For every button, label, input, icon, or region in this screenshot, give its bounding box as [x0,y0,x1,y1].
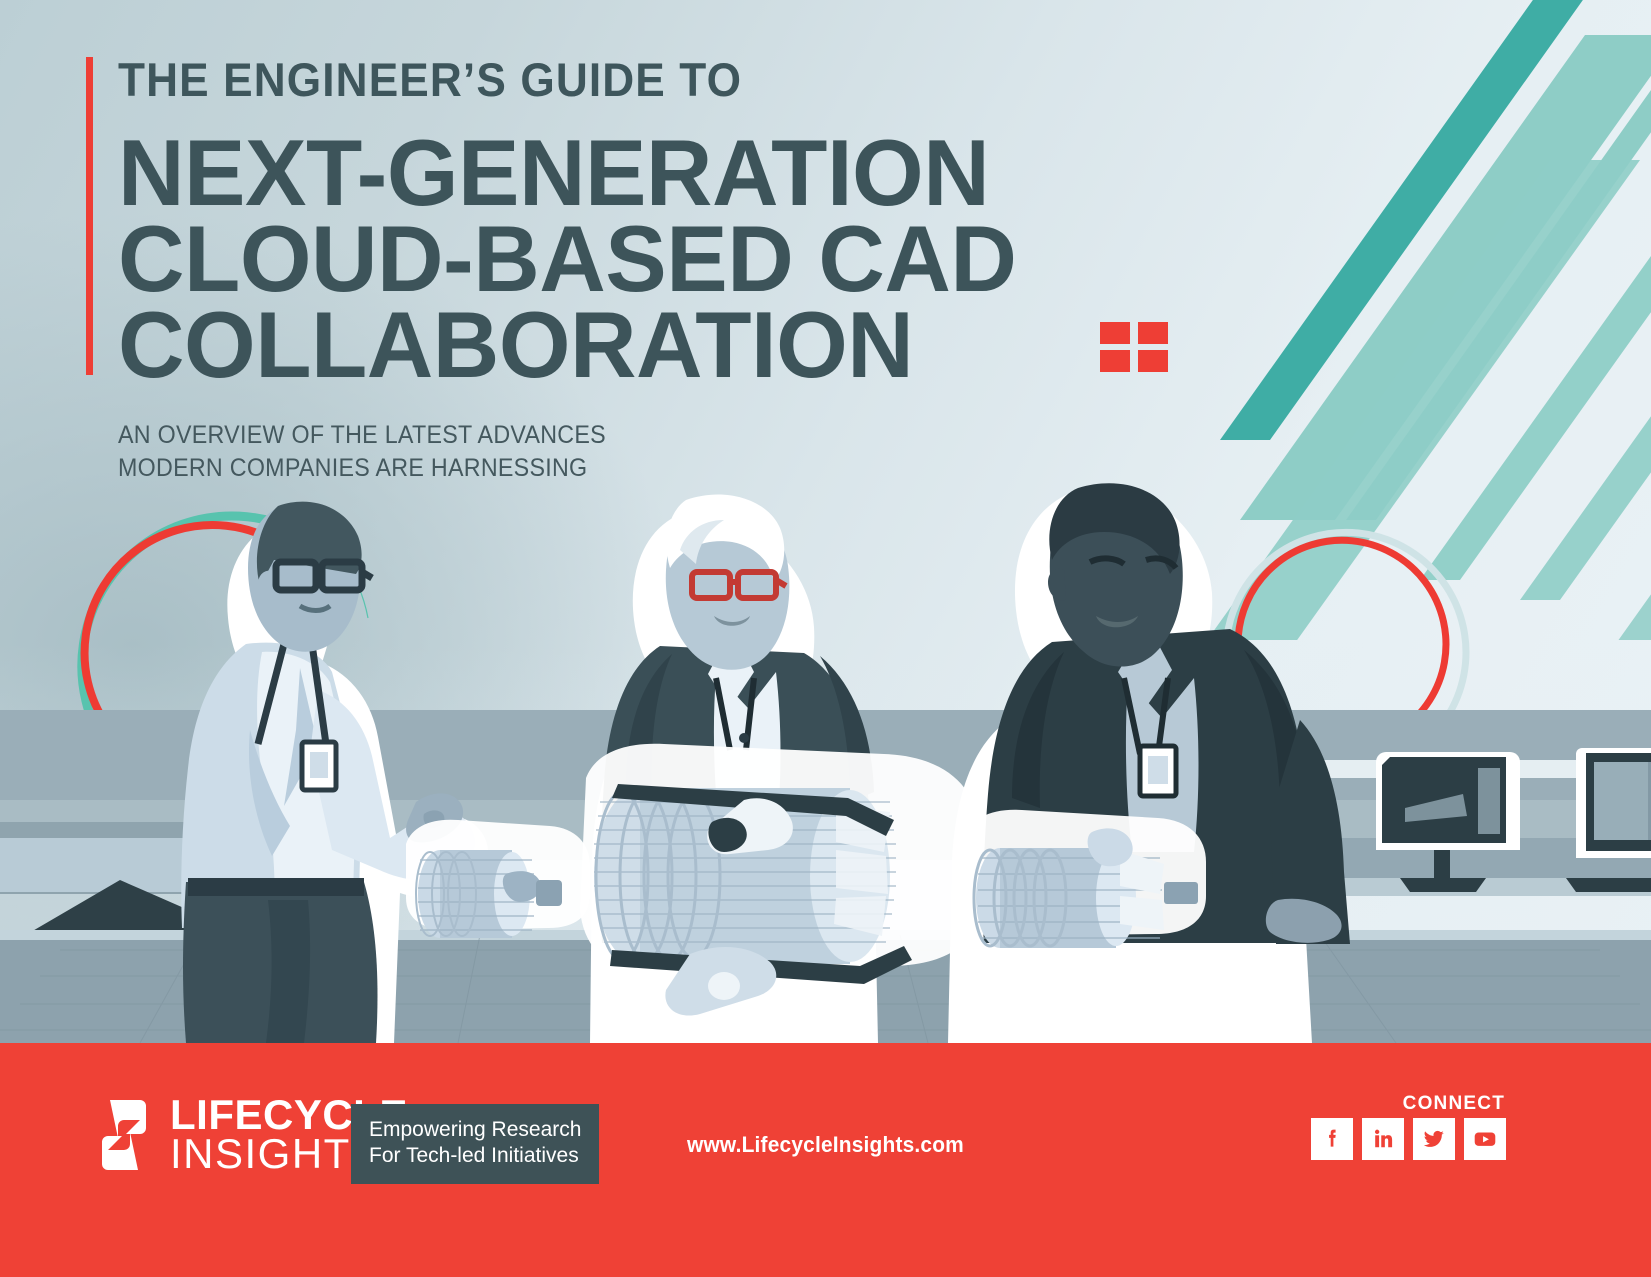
engineer-right [948,483,1350,1043]
cover-page: THE ENGINEER’S GUIDE TO NEXT-GENERATION … [0,0,1651,1277]
square-top-left [1100,322,1130,344]
square-bottom-right [1138,350,1168,372]
title-line-1: NEXT-GENERATION [118,130,1167,216]
subtitle-text: AN OVERVIEW OF THE LATEST ADVANCES MODER… [118,419,713,485]
four-squares-mark-icon [1100,322,1168,372]
eyebrow-text: THE ENGINEER’S GUIDE TO [118,52,1124,108]
cover-illustration [0,430,1651,1043]
title-line-2: CLOUD-BASED CAD [118,216,1167,302]
social-links [1311,1118,1506,1160]
connect-label: CONNECT [1403,1093,1505,1115]
title-line-3: COLLABORATION [118,302,1167,388]
engine-part-right [964,810,1206,948]
square-bottom-left [1100,350,1130,372]
youtube-icon[interactable] [1464,1118,1506,1160]
engine-part-left [406,820,590,938]
linkedin-icon[interactable] [1362,1118,1404,1160]
title-block: THE ENGINEER’S GUIDE TO NEXT-GENERATION … [118,52,1188,388]
twitter-icon[interactable] [1413,1118,1455,1160]
title-accent-rule [86,57,93,375]
square-top-right [1138,322,1168,344]
facebook-icon[interactable] [1311,1118,1353,1160]
